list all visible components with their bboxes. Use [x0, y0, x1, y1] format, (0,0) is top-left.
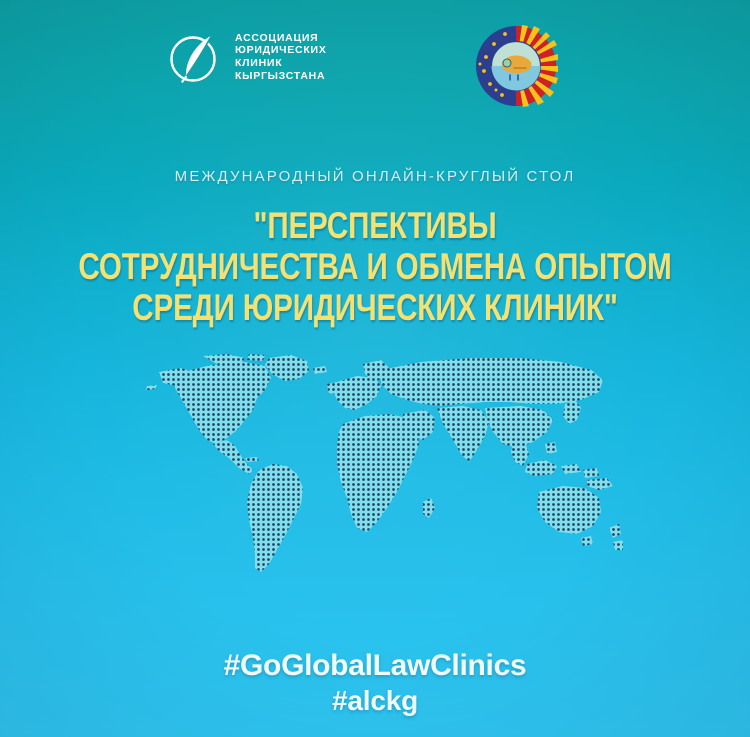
header-logos: АССОЦИАЦИЯ ЮРИДИЧЕСКИХ КЛИНИК КЫРГЫЗСТАН…: [0, 22, 750, 112]
feather-quill-in-circle-icon: [166, 28, 224, 86]
page-title-line-1: "ПЕРСПЕКТИВЫ: [75, 205, 675, 246]
event-kicker: МЕЖДУНАРОДНЫЙ ОНЛАЙН-КРУГЛЫЙ СТОЛ: [0, 168, 750, 185]
page-title: "ПЕРСПЕКТИВЫ СОТРУДНИЧЕСТВА И ОБМЕНА ОПЫ…: [75, 205, 675, 328]
association-logo-line-3: КЛИНИК: [235, 57, 282, 69]
page-title-line-2: СОТРУДНИЧЕСТВА И ОБМЕНА ОПЫТОМ: [75, 246, 675, 287]
page-title-line-3: СРЕДИ ЮРИДИЧЕСКИХ КЛИНИК": [75, 287, 675, 328]
hashtag-primary: #GoGlobalLawClinics: [0, 648, 750, 684]
hashtag-secondary: #alckg: [0, 684, 750, 718]
hashtag-block: #GoGlobalLawClinics #alckg: [0, 648, 750, 718]
circular-state-emblem-icon: [474, 24, 558, 108]
association-logo-line-4: КЫРГЫЗСТАНА: [235, 70, 325, 82]
poster-canvas: АССОЦИАЦИЯ ЮРИДИЧЕСКИХ КЛИНИК КЫРГЫЗСТАН…: [0, 0, 750, 737]
association-logo: АССОЦИАЦИЯ ЮРИДИЧЕСКИХ КЛИНИК КЫРГЫЗСТАН…: [166, 28, 327, 86]
association-logo-line-1: АССОЦИАЦИЯ: [235, 32, 318, 44]
association-logo-line-2: ЮРИДИЧЕСКИХ: [235, 44, 327, 56]
association-logo-text: АССОЦИАЦИЯ ЮРИДИЧЕСКИХ КЛИНИК КЫРГЫЗСТАН…: [235, 32, 327, 82]
dotted-world-map: [141, 352, 625, 584]
